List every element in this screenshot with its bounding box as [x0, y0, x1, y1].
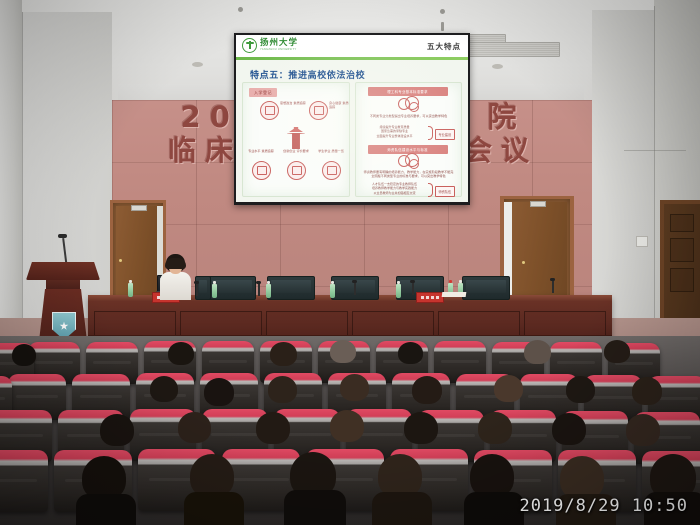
diagram-node-2: [309, 101, 328, 120]
right-wooden-door[interactable]: [504, 199, 570, 308]
audience-head-r2-8: [632, 377, 662, 405]
desk-microphone-1: [196, 283, 198, 296]
audience-head-r2-5: [412, 376, 442, 404]
column-seam-left: [22, 12, 23, 342]
audience-head-r3-4: [330, 410, 364, 442]
ceiling-sensor-left: [238, 7, 243, 12]
far-right-door-panel-2: [670, 238, 694, 262]
desk-microphone-2: [258, 283, 260, 296]
slide-right-list-top-2: 全面提升专业整体建设水平: [364, 134, 426, 138]
audience-head-r1-7: [604, 340, 630, 363]
head-table-panel-2: [180, 311, 262, 337]
desk-microphone-3: [354, 282, 356, 295]
column-seam-horizontal: [624, 150, 686, 151]
head-table-panel-5: [438, 311, 520, 337]
water-bottle-5: [396, 284, 401, 298]
projection-screen: 扬州大学 YANGZHOU UNIVERSITY 五大特点 特点五：推进高校依法…: [236, 35, 468, 202]
audience-head-r1-2: [168, 342, 194, 365]
audience-shoulder-5: [464, 492, 524, 525]
left-door-sign: [131, 205, 147, 211]
slide-right-box-top: 专业建设: [435, 129, 456, 140]
right-door-leaf: [507, 202, 567, 305]
brace-mid-icon: [428, 183, 433, 197]
gears-icon-top: [398, 96, 420, 112]
audience-head-r3-1: [100, 414, 134, 446]
slide-right-text-top: 不同类专业分类型提出专业培养要求，可以突出教学特色: [364, 114, 454, 118]
speaker-body: [160, 272, 191, 300]
audience-shoulder-2: [184, 492, 244, 525]
desk-microphone-5: [552, 280, 554, 293]
head-table-panel-1: [94, 311, 176, 337]
papers-on-table: [442, 292, 467, 297]
far-right-dark-door[interactable]: [664, 204, 700, 335]
audience-head-r3-5: [404, 412, 438, 444]
slide-title: 特点五：推进高校依法治校: [250, 68, 365, 81]
diagram-node-1: [260, 101, 279, 120]
audience-head-r2-1: [150, 376, 178, 402]
head-table-chair-5[interactable]: [462, 276, 510, 300]
water-bottle-4: [330, 284, 335, 298]
slide-header-rule: [236, 57, 468, 60]
slide-left-chip: 入学登记: [249, 88, 277, 97]
diagram-node-2-label: 身心健康 素质追踪: [329, 101, 349, 109]
name-placard-2: [416, 292, 444, 303]
water-bottle-1: [128, 283, 133, 297]
diagram-node-1-label: 思想政治 素质追踪: [280, 101, 312, 105]
audience-shoulder-4: [372, 492, 432, 525]
audience-shoulder-3: [284, 490, 346, 525]
ceiling-air-vent-right: [466, 42, 560, 57]
right-door-sign: [530, 201, 546, 207]
slide-right-bar-top: 理工科专业基本标准要求: [368, 87, 448, 96]
diagram-node-5: [322, 161, 341, 180]
wall-column-right: [592, 10, 654, 340]
audience-head-r1-1: [12, 344, 36, 366]
lectern-neck: [46, 280, 80, 289]
desk-microphone-4: [412, 282, 414, 295]
audience-head-r1-3: [270, 342, 297, 366]
slide-right-text-mid: 师资教师要有明确的培养能力、教学能力，在实施阶段教学不能完全照搬不同类型专业的标…: [364, 170, 454, 178]
slide-right-panel: 理工科专业基本标准要求 不同类专业分类型提出专业培养要求，可以突出教学特色 持续…: [355, 82, 463, 197]
far-right-door-panel-1: [670, 214, 694, 232]
audience-head-r1-5: [398, 342, 423, 364]
water-bottle-3: [266, 284, 271, 298]
left-door-leaf: [116, 206, 160, 305]
university-logo-text-block: 扬州大学 YANGZHOU UNIVERSITY: [260, 39, 298, 52]
audience-shoulder-1: [76, 494, 136, 525]
slide-right-list-mid: 人才队伍一支稳定的专业教师队伍 培养教师教学能力与教学实践能力 以全员教师为主并…: [364, 182, 426, 195]
camera-timestamp: 2019/8/29 10:50: [519, 496, 688, 516]
audience-head-r2-2: [204, 378, 234, 406]
wall-column-far-left: [0, 0, 22, 340]
head-table-panel-4: [352, 311, 434, 337]
water-bottle-2: [212, 284, 217, 298]
head-table-panel-6: [524, 311, 606, 337]
audience-head-r3-3: [256, 412, 290, 444]
audience-head-r2-3: [268, 376, 297, 403]
audience-head-r2-6: [494, 375, 523, 402]
slide-right-box-mid: 师资队伍: [435, 186, 456, 197]
audience-head-r3-2: [178, 412, 211, 443]
slide-right-list-top: 持续提升专业教育质量 国家急需的紧缺专业 全面提升专业整体建设水平: [364, 125, 426, 138]
seat-r4-1[interactable]: [0, 450, 48, 512]
audience-head-r2-7: [566, 376, 595, 403]
ceiling-speaker-right: [492, 64, 503, 69]
conference-room-photo: 2019年 医 学 院 临床教学师资培训会议 扬州大学 YANGZHOU UNI…: [0, 0, 700, 525]
speaker-hair-front: [165, 258, 186, 269]
diagram-node-3: [252, 161, 271, 180]
speaker-person: [158, 254, 192, 298]
head-table-chair-2[interactable]: [267, 276, 315, 300]
slide-right-list-mid-2: 以全员教师为主并加强相互交流: [364, 191, 426, 195]
light-switch-plate: [636, 236, 648, 247]
gears-icon-mid: [398, 153, 420, 169]
diagram-node-4: [287, 161, 306, 180]
head-table-panel-3: [266, 311, 348, 337]
audience-head-r3-8: [626, 414, 660, 446]
growth-arrow-icon: [287, 123, 305, 149]
audience-head-r3-6: [478, 412, 512, 444]
lectern-top: [26, 262, 100, 280]
column-seam-right: [654, 6, 655, 340]
ceiling-projector-mount: [441, 22, 444, 31]
audience-head-r1-6: [524, 340, 551, 364]
slide-header-tag: 五大特点: [427, 41, 461, 52]
university-logo-cn: 扬州大学: [260, 39, 298, 48]
diagram-node-3-label: 专业水平 素质追踪: [247, 149, 275, 153]
diagram-node-4-label: 创新创业 评价要求: [282, 149, 310, 153]
university-logo: 扬州大学 YANGZHOU UNIVERSITY: [242, 38, 298, 53]
ceiling-speaker-left: [192, 62, 203, 67]
brace-top-icon: [428, 126, 433, 140]
university-logo-en: YANGZHOU UNIVERSITY: [260, 48, 298, 52]
far-right-door-panel-3: [670, 268, 694, 292]
slide-left-panel: 入学登记 思想政治 素质追踪 身心健康 素质追踪 专业水平 素质追踪 创新创业 …: [242, 82, 350, 197]
ceiling-sensor-right: [440, 9, 445, 14]
right-door-knob[interactable]: [522, 261, 525, 264]
diagram-node-5-label: 学生学业 质量一览: [317, 149, 345, 153]
audience-head-r3-7: [552, 413, 586, 445]
slide-body: 入学登记 思想政治 素质追踪 身心健康 素质追踪 专业水平 素质追踪 创新创业 …: [242, 82, 462, 197]
audience-head-r1-4: [330, 340, 356, 363]
left-door-knob[interactable]: [119, 259, 122, 262]
university-logo-icon: [242, 38, 257, 53]
audience-head-r2-4: [340, 374, 369, 401]
